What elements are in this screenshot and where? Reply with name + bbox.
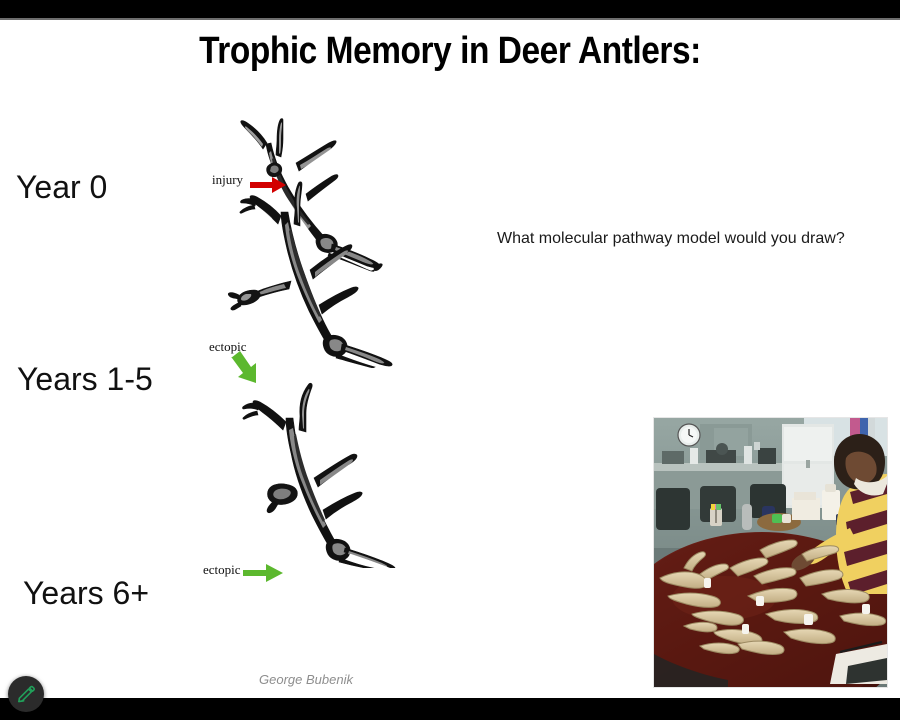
lab-photo xyxy=(653,417,888,688)
stage-label-year-0: Year 0 xyxy=(16,169,107,206)
letterbox-top xyxy=(0,0,900,18)
callout-label-ectopic-years-1-5: ectopic xyxy=(209,339,247,355)
pencil-icon xyxy=(16,684,36,704)
slide-canvas: Trophic Memory in Deer Antlers: Year 0 Y… xyxy=(0,20,900,698)
letterbox-bottom xyxy=(0,698,900,720)
callout-label-ectopic-years-6-plus: ectopic xyxy=(203,562,241,578)
stage-label-years-6-plus: Years 6+ xyxy=(23,575,149,612)
antler-illustration-years-6-plus xyxy=(196,378,406,568)
prompt-question: What molecular pathway model would you d… xyxy=(497,230,845,248)
figure-credit: George Bubenik xyxy=(259,672,353,687)
page-title: Trophic Memory in Deer Antlers: xyxy=(54,30,846,73)
edit-annotation-button[interactable] xyxy=(8,676,44,712)
slide-viewer: Trophic Memory in Deer Antlers: Year 0 Y… xyxy=(0,0,900,720)
stage-label-years-1-5: Years 1-5 xyxy=(17,361,153,398)
callout-label-injury: injury xyxy=(212,172,243,188)
